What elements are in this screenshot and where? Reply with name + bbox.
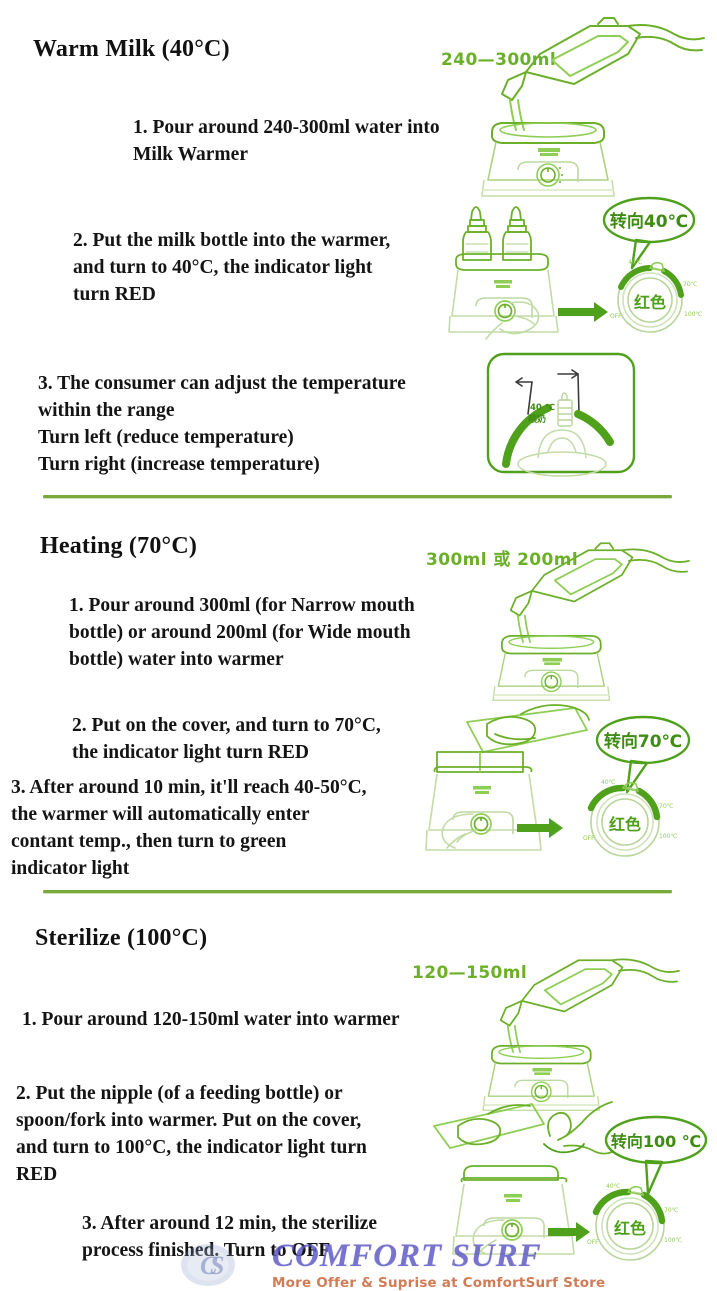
illustration-pour-water-warm-milk bbox=[478, 20, 708, 190]
svg-text:40 ℃: 40 ℃ bbox=[530, 403, 555, 413]
svg-text:70℃: 70℃ bbox=[659, 803, 674, 810]
illustration-dial-range-panel: 40 ℃ 喂奶 bbox=[486, 352, 636, 477]
svg-text:100℃: 100℃ bbox=[684, 311, 702, 318]
dial-center-label-warm-milk: 红色 bbox=[634, 293, 666, 312]
svg-text:70℃: 70℃ bbox=[664, 1207, 679, 1214]
svg-text:100℃: 100℃ bbox=[664, 1237, 682, 1244]
step-text-sterilize-1: 1. Pour around 120-150ml water into warm… bbox=[22, 1006, 482, 1033]
svg-text:70℃: 70℃ bbox=[683, 281, 698, 288]
step-text-sterilize-2: 2. Put the nipple (of a feeding bottle) … bbox=[16, 1080, 446, 1188]
step-text-heating-3: 3. After around 10 min, it'll reach 40-5… bbox=[11, 774, 441, 882]
watermark-tagline: More Offer & Suprise at ComfortSurf Stor… bbox=[272, 1275, 605, 1291]
section-divider-2 bbox=[43, 890, 672, 893]
section-title-warm-milk: Warm Milk (40°C) bbox=[33, 36, 230, 63]
step-text-warm-milk-1: 1. Pour around 240-300ml water into Milk… bbox=[133, 114, 503, 168]
illustration-pour-water-heating bbox=[476, 545, 706, 695]
step-text-heating-2: 2. Put on the cover, and turn to 70°C, t… bbox=[72, 712, 462, 766]
dial-center-label-heating: 红色 bbox=[609, 815, 641, 834]
dial-center-label-sterilize: 红色 bbox=[614, 1219, 646, 1238]
callout-bubble-icon bbox=[606, 1117, 706, 1194]
illustration-pour-water-sterilize bbox=[466, 955, 696, 1105]
svg-text:OFF: OFF bbox=[583, 835, 595, 842]
step-text-heating-1: 1. Pour around 300ml (for Narrow mouth b… bbox=[69, 592, 489, 673]
callout-text-warm-milk: 转向40℃ bbox=[610, 211, 688, 232]
callout-bubble-icon bbox=[604, 198, 694, 268]
instruction-sheet: Warm Milk (40°C) 240—300ml 1. Pour aroun… bbox=[0, 0, 717, 1291]
step-text-warm-milk-3: 3. The consumer can adjust the temperatu… bbox=[38, 370, 488, 478]
step-text-sterilize-3: 3. After around 12 min, the sterilize pr… bbox=[82, 1210, 472, 1264]
svg-text:OFF: OFF bbox=[587, 1239, 599, 1246]
svg-text:100℃: 100℃ bbox=[659, 833, 677, 840]
illustration-cover-and-dial-sterilize: 转向100 ℃ 红色 OFF 40℃ 70℃ 100℃ bbox=[424, 1098, 714, 1268]
svg-text:喂奶: 喂奶 bbox=[528, 413, 546, 425]
svg-text:40℃: 40℃ bbox=[601, 779, 616, 786]
section-title-sterilize: Sterilize (100°C) bbox=[35, 925, 207, 952]
svg-text:OFF: OFF bbox=[610, 313, 622, 320]
device-badge-icon bbox=[538, 148, 560, 156]
illustration-cover-and-dial-heating: 转向70℃ 红色 OFF 40℃ 70℃ 100℃ bbox=[425, 700, 705, 875]
callout-text-heating: 转向70℃ bbox=[604, 731, 682, 752]
svg-text:40℃: 40℃ bbox=[606, 1183, 621, 1190]
callout-text-sterilize: 转向100 ℃ bbox=[611, 1132, 701, 1151]
section-divider-1 bbox=[43, 495, 672, 498]
section-title-heating: Heating (70°C) bbox=[40, 533, 197, 560]
svg-text:40℃: 40℃ bbox=[628, 259, 643, 266]
step-text-warm-milk-2: 2. Put the milk bottle into the warmer, … bbox=[73, 227, 453, 308]
illustration-bottles-and-dial-warm-milk: 转向40℃ 红色 OFF 40℃ 70℃ 100℃ bbox=[450, 190, 700, 345]
